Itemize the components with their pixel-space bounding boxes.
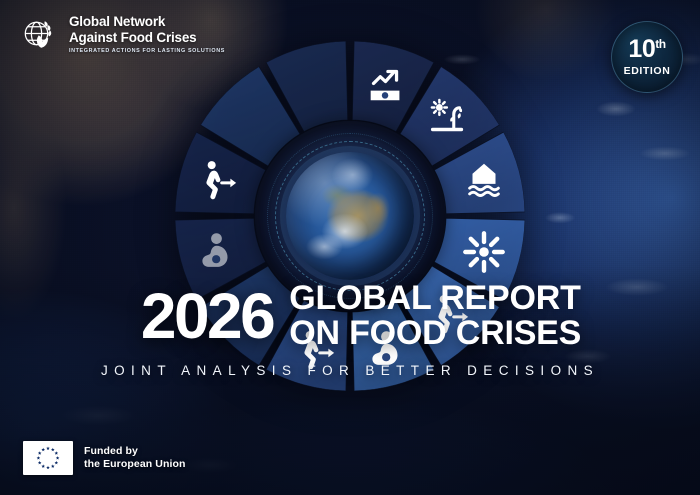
gnafc-tagline: INTEGRATED ACTIONS FOR LASTING SOLUTIONS (69, 49, 225, 54)
gnafc-logo[interactable]: Global Network Against Food Crises INTEG… (20, 13, 225, 54)
report-cover: Global Network Against Food Crises INTEG… (0, 0, 700, 495)
publication-year: 2026 (141, 288, 273, 344)
eu-funding-text: Funded by the European Union (84, 445, 186, 471)
gnafc-name-line-1: Global Network (69, 14, 225, 30)
economic-shock-money-chart-icon (363, 59, 409, 105)
gnafc-name-line-2: Against Food Crises (69, 30, 225, 46)
edition-badge: 10 th EDITION (611, 21, 683, 93)
flood-house-water-icon (461, 157, 507, 203)
cover-subtitle: JOINT ANALYSIS FOR BETTER DECISIONS (101, 363, 599, 378)
cover-title-block: 2026 GLOBAL REPORT ON FOOD CRISES JOINT … (0, 281, 700, 378)
malnutrition-mother-child-icon (193, 229, 239, 275)
displacement-person-arrow-icon (193, 157, 239, 203)
edition-label: EDITION (624, 65, 671, 77)
eu-funding-line-2: the European Union (84, 458, 186, 471)
edition-number: 10 (628, 37, 655, 62)
edition-ordinal-suffix: th (655, 38, 665, 50)
gnafc-logo-text: Global Network Against Food Crises INTEG… (69, 13, 225, 54)
title-line-2: ON FOOD CRISES (289, 316, 581, 351)
globe-wheat-icon (20, 14, 60, 54)
eu-funding-line-1: Funded by (84, 445, 186, 458)
title-line-1: GLOBAL REPORT (289, 281, 581, 316)
page-title: GLOBAL REPORT ON FOOD CRISES (289, 281, 581, 351)
eu-funding-block: Funded by the European Union (23, 441, 186, 475)
conflict-burst-icon (461, 229, 507, 275)
title-row: 2026 GLOBAL REPORT ON FOOD CRISES (0, 281, 700, 351)
european-union-flag-icon (23, 441, 73, 475)
drought-sun-wilting-plant-icon (425, 95, 471, 141)
edition-number-group: 10 th (628, 37, 665, 62)
